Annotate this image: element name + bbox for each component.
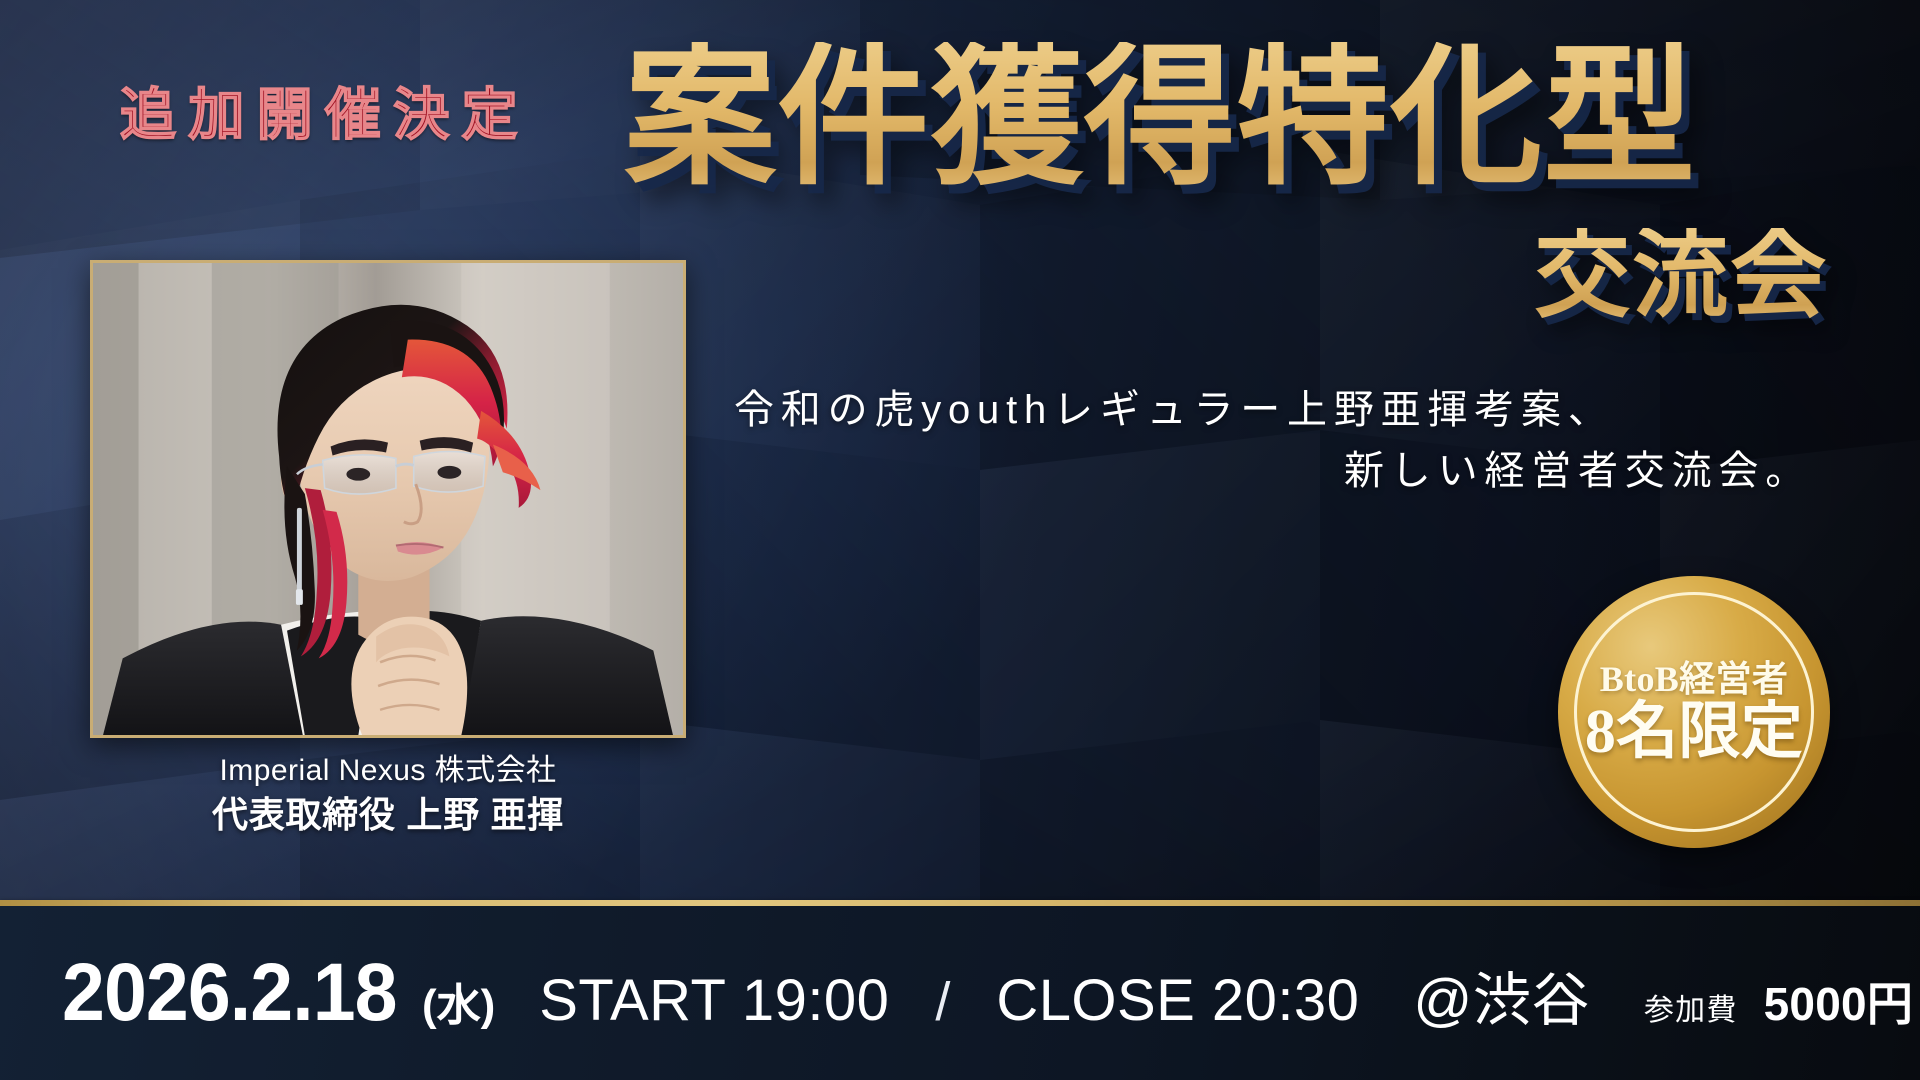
fee-value: 5000円 (1764, 968, 1913, 1034)
event-day-of-week: (水) (422, 969, 495, 1033)
portrait-illustration (93, 263, 683, 735)
lead-line-2: 新しい経営者交流会。 (640, 441, 1820, 502)
speaker-company: Imperial Nexus 株式会社 (90, 752, 686, 790)
hero-section: 追加開催決定 案件獲得特化型 交流会 令和の虎youthレギュラー上野亜揮考案、… (0, 0, 1920, 902)
speaker-credit: Imperial Nexus 株式会社 代表取締役 上野 亜揮 (90, 752, 686, 839)
speaker-name: 代表取締役 上野 亜揮 (90, 792, 686, 839)
event-details-row: 2026.2.18 (水) START 19:00 / CLOSE 20:30 … (0, 946, 1920, 1040)
badge-top-label: BtoB経営者 (1600, 661, 1789, 697)
fee-label: 参加費 (1644, 985, 1738, 1029)
lead-copy: 令和の虎youthレギュラー上野亜揮考案、 新しい経営者交流会。 (640, 380, 1820, 502)
time-separator: / (935, 971, 950, 1033)
event-close-time: CLOSE 20:30 (996, 967, 1359, 1034)
badge-main-label: 8名限定 (1585, 701, 1803, 763)
lead-line-1: 令和の虎youthレギュラー上野亜揮考案、 (640, 380, 1820, 441)
event-date: 2026.2.18 (62, 946, 397, 1040)
event-location: @渋谷 (1413, 953, 1590, 1037)
speaker-photo (90, 260, 686, 738)
event-details-bar: 2026.2.18 (水) START 19:00 / CLOSE 20:30 … (0, 906, 1920, 1080)
capacity-badge: BtoB経営者 8名限定 (1558, 576, 1830, 848)
page-subtitle: 交流会 (624, 228, 1828, 324)
event-start-time: START 19:00 (539, 967, 889, 1034)
kicker-badge-text: 追加開催決定 (120, 88, 530, 144)
event-banner: 追加開催決定 案件獲得特化型 交流会 令和の虎youthレギュラー上野亜揮考案、… (0, 0, 1920, 1080)
page-title: 案件獲得特化型 (624, 42, 1824, 197)
